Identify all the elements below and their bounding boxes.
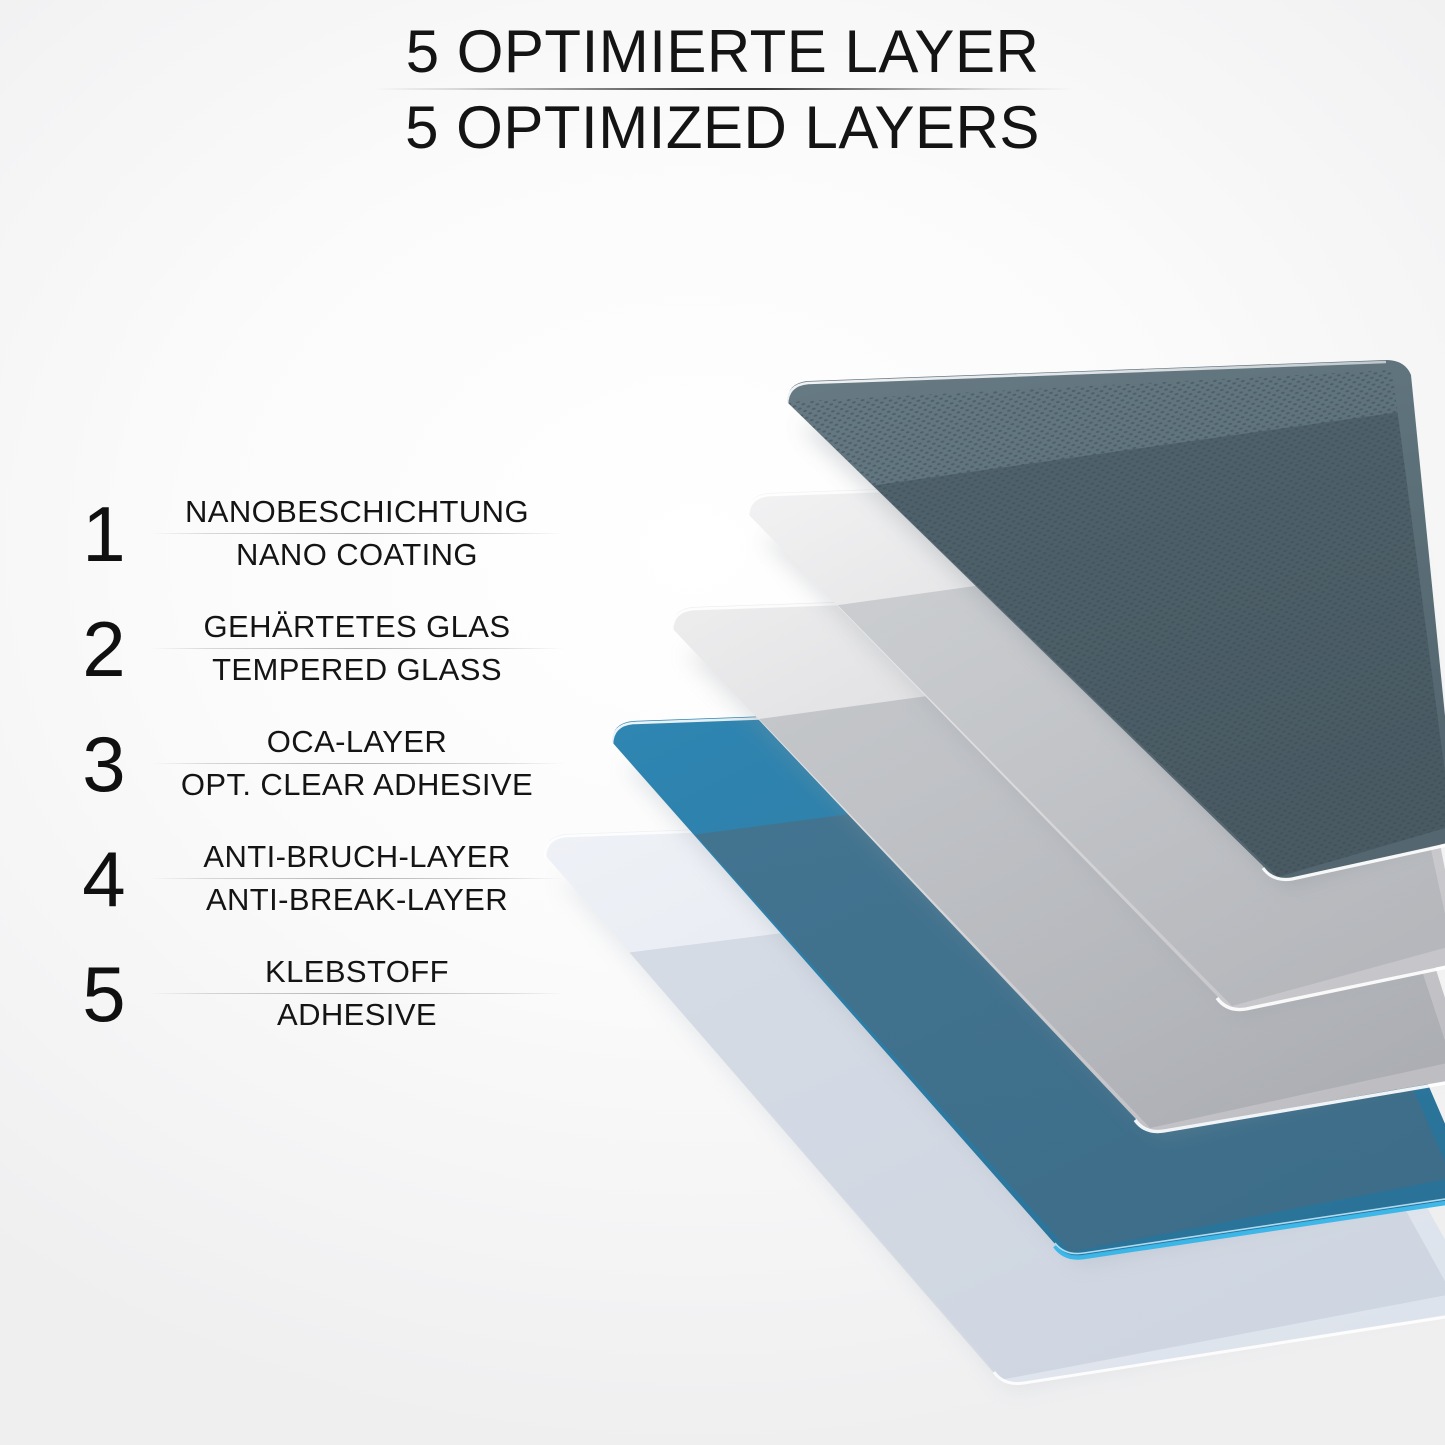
legend-item-1: 1 NANOBESCHICHTUNG NANO COATING (58, 476, 568, 591)
legend-item-4: 4 ANTI-BRUCH-LAYER ANTI-BREAK-LAYER (58, 821, 568, 936)
legend-label-en-3: OPT. CLEAR ADHESIVE (150, 765, 564, 805)
legend-labels-5: KLEBSTOFF ADHESIVE (150, 952, 568, 1034)
legend-number-3: 3 (58, 725, 150, 803)
infographic-canvas: 5 OPTIMIERTE LAYER 5 OPTIMIZED LAYERS 1 … (0, 0, 1445, 1445)
legend-divider-4 (150, 878, 564, 879)
legend-item-5: 5 KLEBSTOFF ADHESIVE (58, 936, 568, 1051)
legend-label-de-2: GEHÄRTETES GLAS (150, 607, 564, 647)
legend-labels-1: NANOBESCHICHTUNG NANO COATING (150, 492, 568, 574)
legend-label-en-5: ADHESIVE (150, 995, 564, 1035)
legend-label-de-1: NANOBESCHICHTUNG (150, 492, 564, 532)
title-german: 5 OPTIMIERTE LAYER (0, 18, 1445, 86)
legend-label-en-2: TEMPERED GLASS (150, 650, 564, 690)
legend-number-4: 4 (58, 840, 150, 918)
page-title: 5 OPTIMIERTE LAYER 5 OPTIMIZED LAYERS (0, 18, 1445, 162)
layer-legend: 1 NANOBESCHICHTUNG NANO COATING 2 GEHÄRT… (58, 476, 568, 1051)
legend-label-en-1: NANO COATING (150, 535, 564, 575)
legend-item-2: 2 GEHÄRTETES GLAS TEMPERED GLASS (58, 591, 568, 706)
legend-divider-3 (150, 763, 564, 764)
legend-item-3: 3 OCA-LAYER OPT. CLEAR ADHESIVE (58, 706, 568, 821)
legend-label-en-4: ANTI-BREAK-LAYER (150, 880, 564, 920)
legend-labels-2: GEHÄRTETES GLAS TEMPERED GLASS (150, 607, 568, 689)
legend-divider-1 (150, 533, 564, 534)
legend-label-de-4: ANTI-BRUCH-LAYER (150, 837, 564, 877)
legend-number-1: 1 (58, 495, 150, 573)
title-english: 5 OPTIMIZED LAYERS (0, 94, 1445, 162)
legend-number-5: 5 (58, 955, 150, 1033)
legend-number-2: 2 (58, 610, 150, 688)
legend-labels-3: OCA-LAYER OPT. CLEAR ADHESIVE (150, 722, 568, 804)
legend-divider-2 (150, 648, 564, 649)
title-divider (373, 88, 1073, 90)
legend-label-de-5: KLEBSTOFF (150, 952, 564, 992)
legend-labels-4: ANTI-BRUCH-LAYER ANTI-BREAK-LAYER (150, 837, 568, 919)
legend-divider-5 (150, 993, 564, 994)
legend-label-de-3: OCA-LAYER (150, 722, 564, 762)
